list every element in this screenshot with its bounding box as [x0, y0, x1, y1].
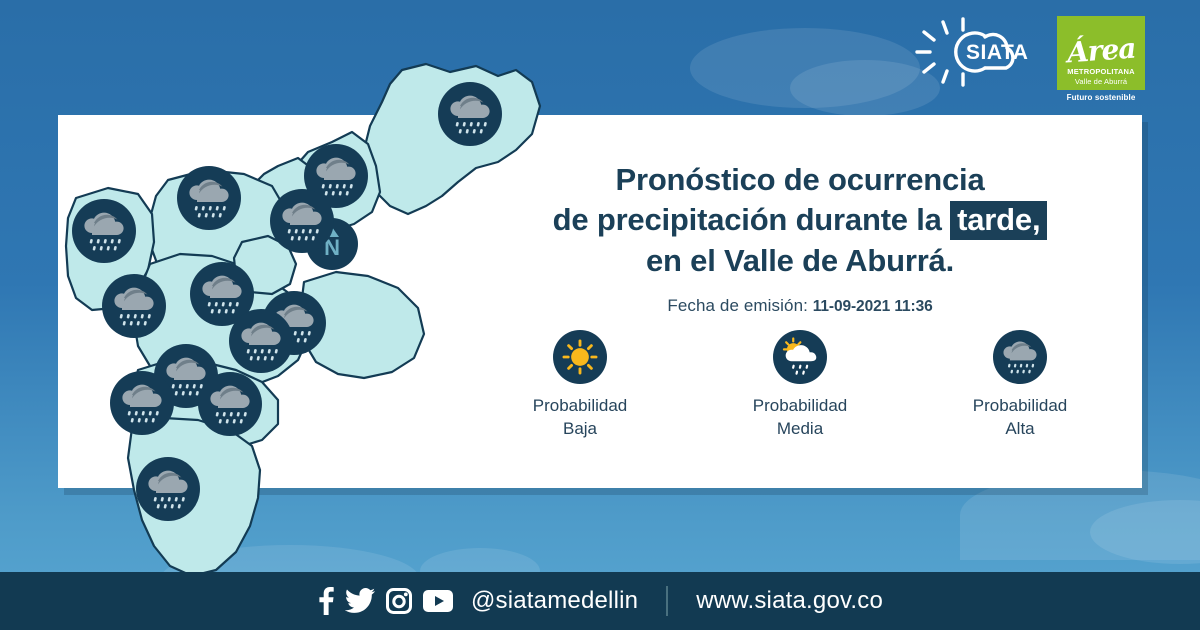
page-title-line2-text: de precipitación durante la: [553, 202, 951, 237]
map-marker-cloud-rain-icon[interactable]: [438, 82, 502, 146]
youtube-icon[interactable]: [423, 590, 453, 612]
logo-group: SIATA Área METROPOLITANA Valle de Aburrá…: [913, 16, 1145, 102]
legend-alta-line1: Probabilidad: [973, 396, 1068, 415]
am-green-box: Área METROPOLITANA Valle de Aburrá: [1057, 16, 1145, 90]
legend-item-media[interactable]: Probabilidad Media: [713, 330, 888, 441]
social-icons: [317, 587, 453, 615]
map-marker-cloud-rain-icon[interactable]: [198, 372, 262, 436]
am-line1: METROPOLITANA: [1067, 68, 1134, 77]
map-marker-cloud-rain-icon[interactable]: [72, 199, 136, 263]
cloud-rain-icon: [993, 330, 1047, 384]
siata-logo: SIATA: [913, 16, 1043, 88]
map-marker-cloud-rain-icon[interactable]: [136, 457, 200, 521]
am-line2: Valle de Aburrá: [1075, 77, 1127, 86]
forecast-text-block: Pronóstico de ocurrencia de precipitació…: [470, 160, 1130, 316]
instagram-icon[interactable]: [386, 588, 412, 614]
legend-item-baja[interactable]: Probabilidad Baja: [493, 330, 668, 441]
legend-media-line2: Media: [777, 419, 823, 438]
footer-divider: [666, 586, 668, 616]
website-url[interactable]: www.siata.gov.co: [696, 587, 883, 615]
map-marker-cloud-rain-icon[interactable]: [177, 166, 241, 230]
legend-media-line1: Probabilidad: [753, 396, 848, 415]
sun-icon: [553, 330, 607, 384]
map-marker-cloud-rain-icon[interactable]: [110, 371, 174, 435]
social-handle[interactable]: @siatamedellin: [471, 587, 638, 615]
probability-legend: Probabilidad Baja Probabilidad: [470, 330, 1130, 441]
page-title-line2: de precipitación durante la tarde,: [470, 200, 1130, 240]
highlight-tarde: tarde,: [950, 201, 1047, 240]
legend-alta-line2: Alta: [1005, 419, 1034, 438]
footer-bar: @siatamedellin www.siata.gov.co: [0, 572, 1200, 630]
page-title-line1: Pronóstico de ocurrencia: [470, 160, 1130, 200]
facebook-icon[interactable]: [317, 587, 334, 615]
legend-label-alta: Probabilidad Alta: [933, 395, 1108, 441]
legend-label-baja: Probabilidad Baja: [493, 395, 668, 441]
map-marker-cloud-rain-icon[interactable]: [102, 274, 166, 338]
sun-cloud-icon: SIATA: [913, 16, 1043, 88]
emission-value: 11-09-2021 11:36: [813, 298, 933, 315]
am-tagline: Futuro sostenible: [1057, 93, 1145, 102]
map-marker-cloud-rain-icon[interactable]: [270, 189, 334, 253]
legend-item-alta[interactable]: Probabilidad Alta: [933, 330, 1108, 441]
twitter-icon[interactable]: [345, 588, 375, 614]
area-metropolitana-logo: Área METROPOLITANA Valle de Aburrá Futur…: [1057, 16, 1145, 102]
siata-wordmark: SIATA: [966, 41, 1028, 64]
sun-cloud-rain-icon: [773, 330, 827, 384]
legend-label-media: Probabilidad Media: [713, 395, 888, 441]
legend-baja-line2: Baja: [563, 419, 597, 438]
legend-baja-line1: Probabilidad: [533, 396, 628, 415]
map-marker-cloud-rain-icon[interactable]: [229, 309, 293, 373]
emission-date: Fecha de emisión: 11-09-2021 11:36: [470, 296, 1130, 316]
page-title-line3: en el Valle de Aburrá.: [470, 241, 1130, 281]
am-script-wordmark: Área: [1066, 35, 1136, 68]
emission-label: Fecha de emisión:: [667, 296, 808, 315]
